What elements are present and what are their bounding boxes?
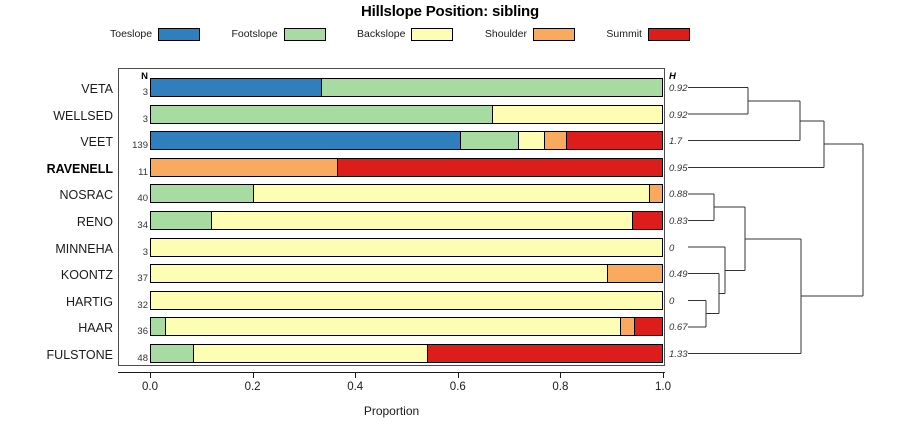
n-value: 3 <box>143 247 148 258</box>
legend-swatch-summit <box>648 28 690 41</box>
legend-item-summit: Summit <box>606 28 690 41</box>
x-axis-tick-label: 0.2 <box>245 381 261 393</box>
bar-segment-shoulder <box>649 185 662 202</box>
x-axis-title: Proportion <box>118 404 665 418</box>
bar-segment-summit <box>566 132 662 149</box>
bar-row <box>150 344 663 363</box>
legend-label: Backslope <box>357 28 405 40</box>
x-axis-tick <box>560 372 561 378</box>
bar-segment-footslope <box>151 185 253 202</box>
dendrogram-svg <box>676 62 900 370</box>
legend-label: Summit <box>606 28 642 40</box>
bar-row <box>150 78 663 97</box>
bar-segment-shoulder <box>151 159 337 176</box>
bar-segment-footslope <box>151 212 211 229</box>
bar-segment-summit <box>632 212 662 229</box>
category-label-hartig: HARTIG <box>66 296 113 308</box>
x-axis-line <box>118 372 665 373</box>
legend-label: Footslope <box>231 28 277 40</box>
bar-segment-summit <box>427 345 662 362</box>
x-axis-tick-label: 0.4 <box>347 381 363 393</box>
bar-row <box>150 264 663 283</box>
category-label-veta: VETA <box>81 83 113 95</box>
bar-segment-shoulder <box>607 265 662 282</box>
legend-item-footslope: Footslope <box>231 28 325 41</box>
legend-item-backslope: Backslope <box>357 28 453 41</box>
x-axis-tick <box>458 372 459 378</box>
category-label-reno: RENO <box>77 216 113 228</box>
x-axis-tick <box>150 372 151 378</box>
legend: ToeslopeFootslopeBackslopeShoulderSummit <box>110 26 690 42</box>
category-label-nosrac: NOSRAC <box>60 189 113 201</box>
page-title: Hillslope Position: sibling <box>0 3 900 20</box>
n-column-header: N <box>141 71 148 82</box>
legend-label: Toeslope <box>110 28 152 40</box>
bar-segment-backslope <box>492 106 662 123</box>
bar-segment-backslope <box>151 239 662 256</box>
category-label-wellsed: WELLSED <box>53 110 113 122</box>
x-axis-tick <box>253 372 254 378</box>
bar-row <box>150 238 663 257</box>
bar-row <box>150 291 663 310</box>
bar-row <box>150 105 663 124</box>
n-value: 40 <box>137 193 148 204</box>
legend-swatch-backslope <box>411 28 453 41</box>
n-value: 3 <box>143 114 148 125</box>
bar-segment-shoulder <box>620 318 634 335</box>
category-label-ravenell: RAVENELL <box>47 163 113 175</box>
category-label-veet: VEET <box>80 136 113 148</box>
bar-segment-backslope <box>518 132 544 149</box>
bar-row <box>150 184 663 203</box>
h-column-header: H <box>669 71 676 82</box>
bar-segment-backslope <box>253 185 649 202</box>
x-axis-tick-label: 1.0 <box>655 381 671 393</box>
category-label-haar: HAAR <box>78 322 113 334</box>
n-column: N 33139114034337323648 <box>119 68 150 366</box>
n-value: 37 <box>137 273 148 284</box>
legend-swatch-shoulder <box>533 28 575 41</box>
bar-segment-backslope <box>193 345 427 362</box>
h-value: 0 <box>669 243 674 254</box>
x-axis-tick-label: 0.8 <box>552 381 568 393</box>
dendrogram <box>676 62 900 370</box>
bar-segment-footslope <box>460 132 519 149</box>
legend-label: Shoulder <box>485 28 527 40</box>
x-axis-tick-label: 0.0 <box>142 381 158 393</box>
bar-segment-toeslope <box>151 79 321 96</box>
bar-segment-summit <box>337 159 662 176</box>
legend-swatch-toeslope <box>158 28 200 41</box>
n-value: 32 <box>137 300 148 311</box>
bar-segment-footslope <box>151 106 492 123</box>
bar-segment-footslope <box>321 79 662 96</box>
n-value: 3 <box>143 87 148 98</box>
category-label-fulstone: FULSTONE <box>47 349 113 361</box>
bar-row <box>150 211 663 230</box>
n-value: 11 <box>138 167 148 178</box>
chart-root: Hillslope Position: sibling ToeslopeFoot… <box>0 0 900 440</box>
x-axis-tick-label: 0.6 <box>450 381 466 393</box>
legend-item-shoulder: Shoulder <box>485 28 575 41</box>
category-label-koontz: KOONTZ <box>61 269 113 281</box>
bar-row <box>150 131 663 150</box>
bar-segment-backslope <box>165 318 619 335</box>
n-value: 48 <box>137 353 148 364</box>
n-value: 139 <box>132 140 148 151</box>
bar-segment-shoulder <box>544 132 566 149</box>
x-axis-tick <box>663 372 664 378</box>
n-value: 34 <box>137 220 148 231</box>
bar-segment-backslope <box>211 212 632 229</box>
bar-segment-summit <box>634 318 662 335</box>
category-label-minneha: MINNEHA <box>55 243 113 255</box>
stacked-bars <box>150 68 663 366</box>
legend-swatch-footslope <box>284 28 326 41</box>
bar-row <box>150 317 663 336</box>
h-value: 0 <box>669 296 674 307</box>
bar-segment-backslope <box>151 292 662 309</box>
bar-segment-backslope <box>151 265 607 282</box>
bar-row <box>150 158 663 177</box>
category-label-column: VETAWELLSEDVEETRAVENELLNOSRACRENOMINNEHA… <box>0 70 113 362</box>
bar-segment-toeslope <box>151 132 460 149</box>
bar-segment-footslope <box>151 318 165 335</box>
bar-segment-footslope <box>151 345 193 362</box>
legend-item-toeslope: Toeslope <box>110 28 200 41</box>
x-axis-tick <box>355 372 356 378</box>
n-value: 36 <box>137 326 148 337</box>
